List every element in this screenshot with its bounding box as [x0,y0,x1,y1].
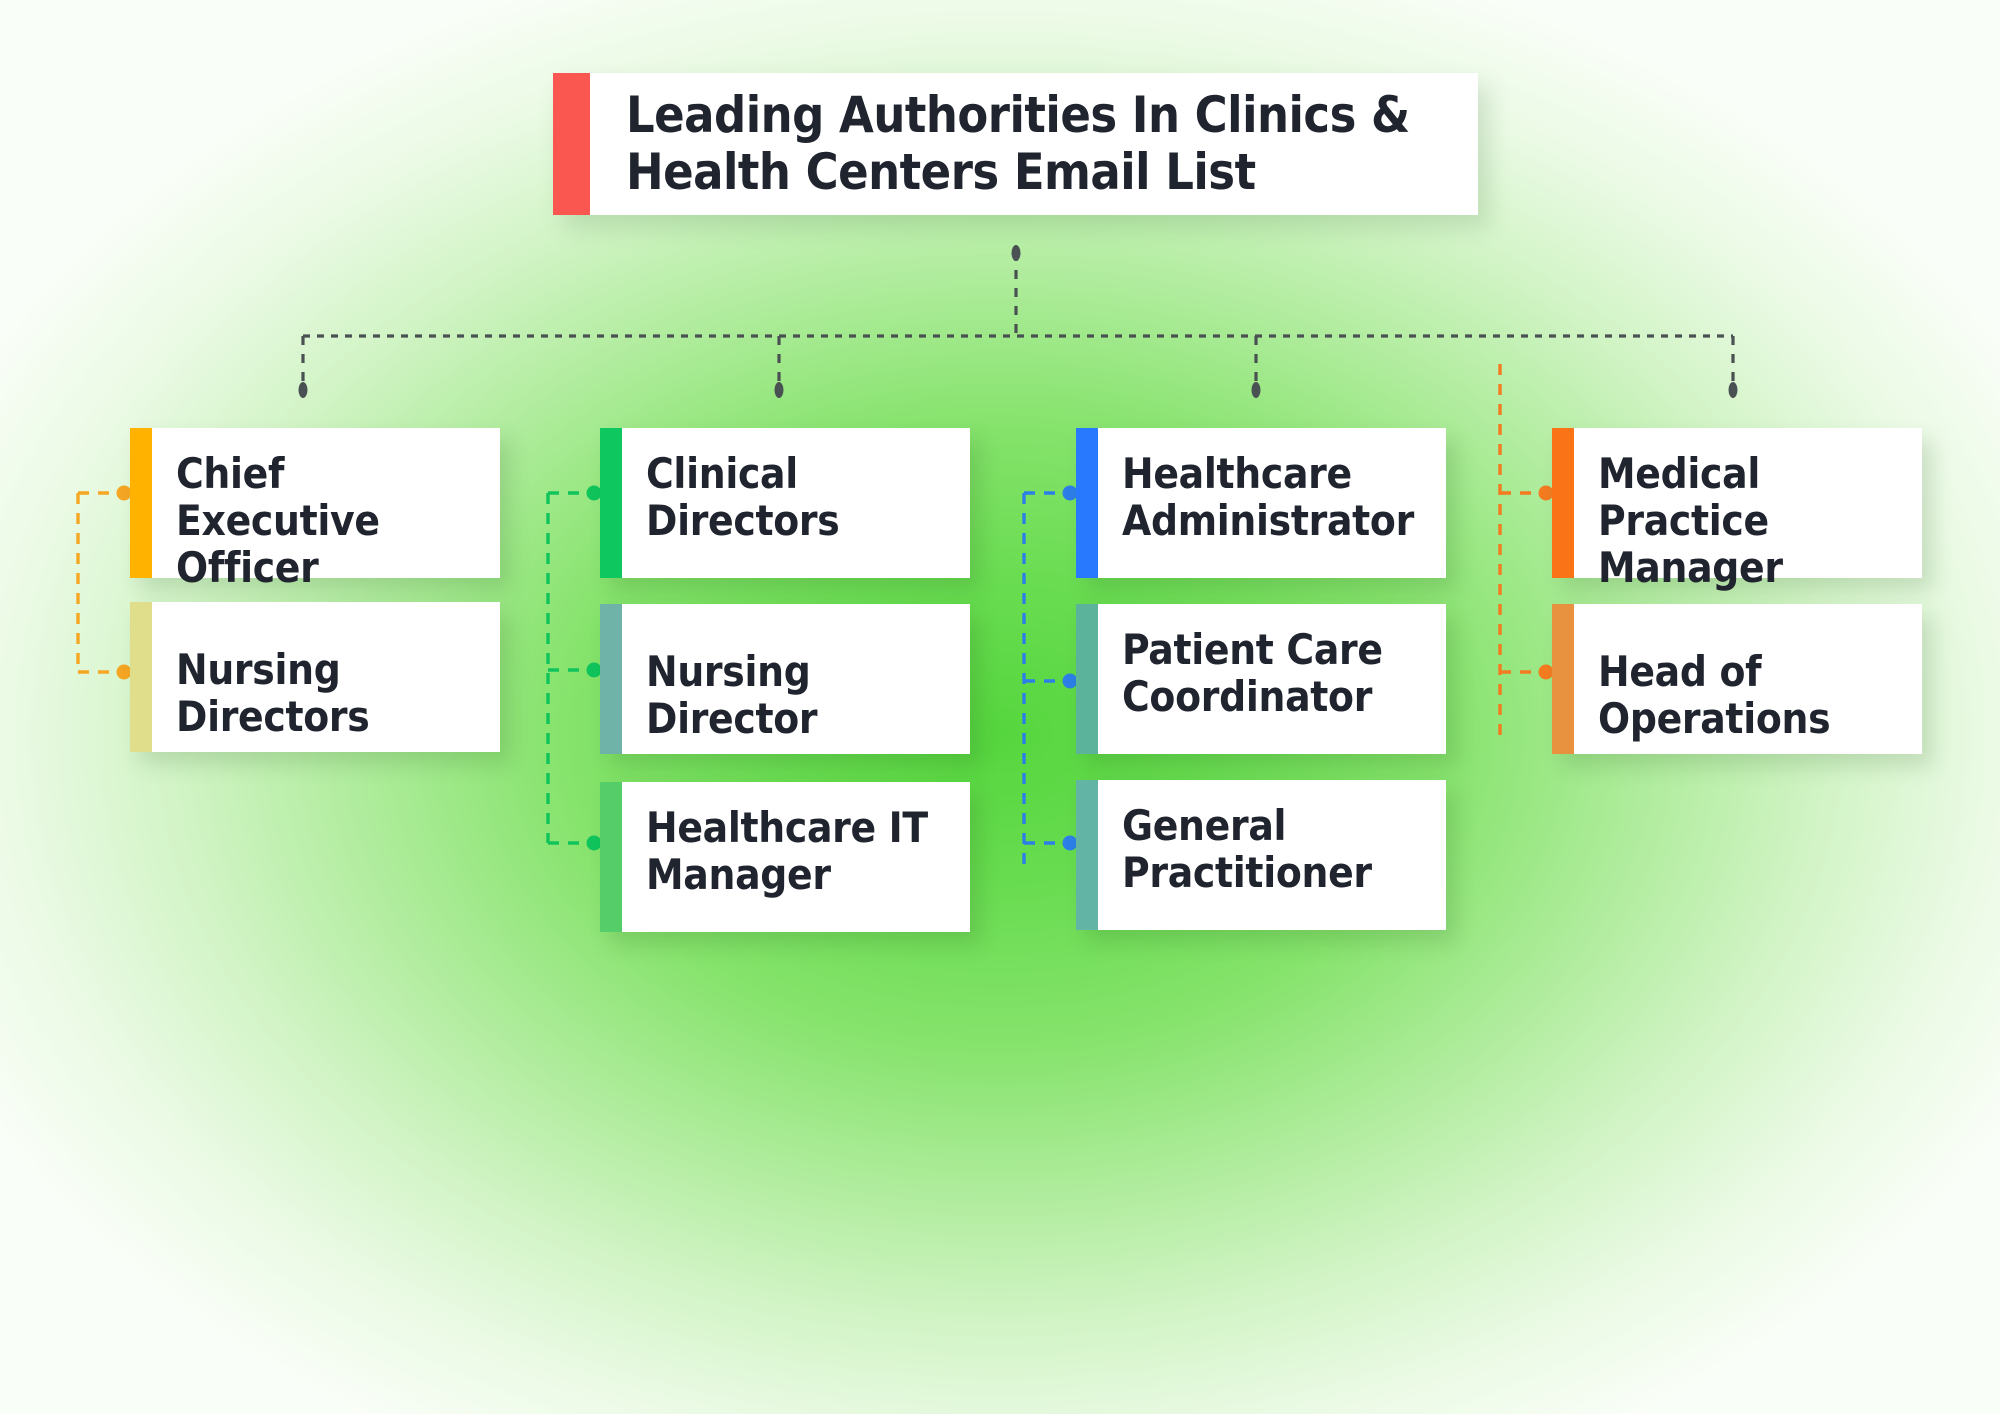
card-label: Medical Practice Manager [1574,428,1922,578]
card-medical-practice-manager[interactable]: Medical Practice Manager [1552,428,1922,578]
card-label: Healthcare IT Manager [622,782,970,932]
page-title: Leading Authorities In Clinics & Health … [590,73,1478,215]
card-accent-bar [130,602,152,752]
column-3-connector [1024,486,1078,873]
card-accent-bar [1552,428,1574,578]
card-label: Nursing Director [622,604,970,754]
org-chart-canvas: Leading Authorities In Clinics & Health … [0,0,2000,1414]
card-patient-care-coordinator[interactable]: Patient Care Coordinator [1076,604,1446,754]
card-accent-bar [600,428,622,578]
card-label: Nursing Directors [152,602,500,752]
card-accent-bar [1076,604,1098,754]
card-accent-bar [1552,604,1574,754]
card-accent-bar [600,604,622,754]
card-clinical-directors[interactable]: Clinical Directors [600,428,970,578]
card-label: General Practitioner [1098,780,1446,930]
card-nursing-directors[interactable]: Nursing Directors [130,602,500,752]
card-accent-bar [1076,428,1098,578]
chart-title-card: Leading Authorities In Clinics & Health … [553,73,1478,215]
title-accent-bar [553,73,590,215]
card-label: Healthcare Administrator [1098,428,1446,578]
card-label: Patient Care Coordinator [1098,604,1446,754]
column-1-connector [78,486,132,680]
column-2-connector [548,486,602,851]
root-connector [299,245,1738,398]
card-label: Head of Operations [1574,604,1922,754]
card-label: Chief Executive Officer [152,428,500,578]
card-label: Clinical Directors [622,428,970,578]
card-accent-bar [600,782,622,932]
card-chief-executive-officer[interactable]: Chief Executive Officer [130,428,500,578]
column-4-connector [1500,364,1554,735]
card-nursing-director[interactable]: Nursing Director [600,604,970,754]
card-accent-bar [1076,780,1098,930]
card-healthcare-administrator[interactable]: Healthcare Administrator [1076,428,1446,578]
card-general-practitioner[interactable]: General Practitioner [1076,780,1446,930]
card-healthcare-it-manager[interactable]: Healthcare IT Manager [600,782,970,932]
card-head-of-operations[interactable]: Head of Operations [1552,604,1922,754]
card-accent-bar [130,428,152,578]
